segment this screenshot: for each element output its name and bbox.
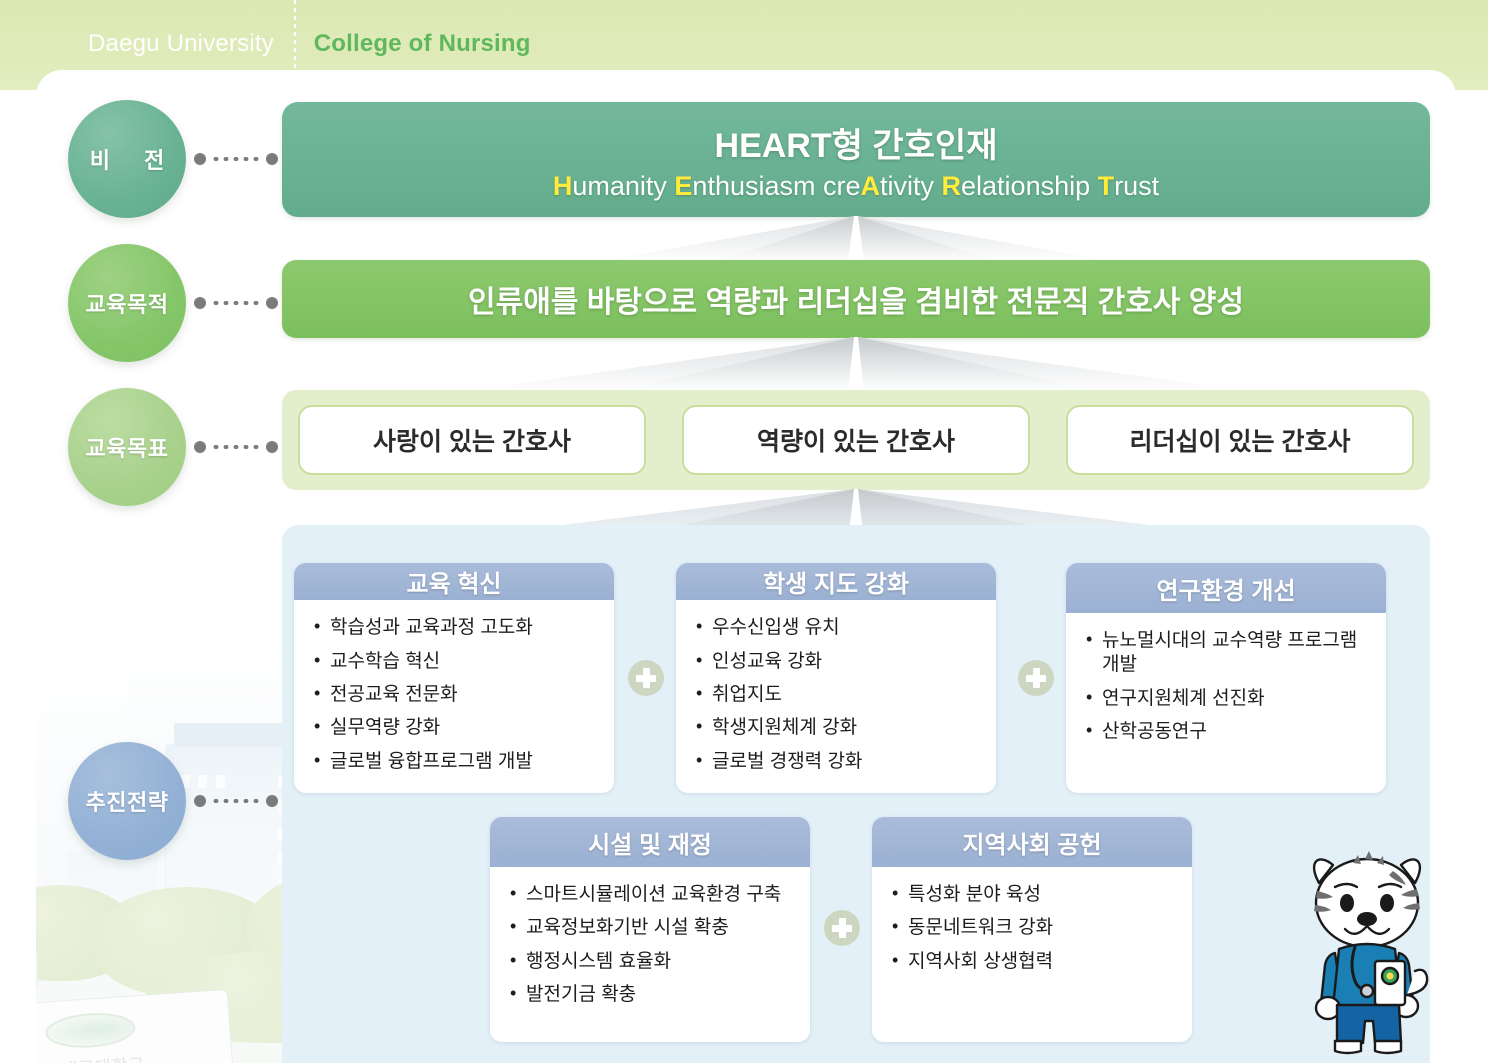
strategy-card-education-innovation: 교육 혁신 학습성과 교육과정 고도화 교수학습 혁신 전공교육 전문화 실무역… [294,563,614,793]
campus-kiosk [36,953,38,987]
plus-icon [628,660,664,696]
label-circle-strategy: 추진전략 [68,742,186,860]
strategy-item: 교수학습 혁신 [314,650,596,674]
strategy-item: 글로벌 경쟁력 강화 [696,750,978,774]
connector-dot-icon [194,297,206,309]
label-circle-strategy-text: 추진전략 [86,785,169,817]
strategy-item: 우수신입생 유치 [696,616,978,640]
label-circle-purpose-text: 교육목적 [86,287,169,319]
connector-dot-icon [266,795,278,807]
white-tiger-nurse-mascot-icon [1287,845,1447,1060]
campus-sign: 대구대학교 [36,990,233,1063]
vision-initial-a: A [861,171,881,201]
strategy-card-body: 뉴노멀시대의 교수역량 프로그램 개발 연구지원체계 선진화 산학공동연구 [1066,613,1386,793]
plus-icon [1018,660,1054,696]
connector-dot-icon [194,153,206,165]
campus-sign-text: 대구대학교 [61,1050,146,1063]
label-circle-purpose: 교육목적 [68,244,186,362]
vision-word-creativity: tivity [880,171,942,201]
label-circle-vision-text: 비 전 [76,143,179,175]
dotted-connector-vision [194,153,278,165]
strategy-item: 동문네트워크 강화 [892,916,1174,940]
fan-connector-vision-to-purpose [596,216,1116,262]
vision-word-enthusiasm: nthusiasm cre [692,171,860,201]
label-circle-vision: 비 전 [68,100,186,218]
connector-dots-icon [210,445,262,449]
connector-dot-icon [194,795,206,807]
connector-dot-icon [266,297,278,309]
college-name: College of Nursing [314,30,531,57]
strategy-card-title: 학생 지도 강화 [676,563,996,600]
strategy-card-title: 지역사회 공헌 [872,817,1192,867]
vision-banner: HEART형 간호인재 Humanity Enthusiasm creAtivi… [282,102,1430,217]
campus-tree [36,885,136,981]
strategy-card-facilities-finance: 시설 및 재정 스마트시뮬레이션 교육환경 구축 교육정보화기반 시설 확충 행… [490,817,810,1042]
connector-dot-icon [266,153,278,165]
strategy-card-title: 교육 혁신 [294,563,614,600]
purpose-text: 인류애를 바탕으로 역량과 리더십을 겸비한 전문직 간호사 양성 [468,277,1244,321]
strategy-card-title: 연구환경 개선 [1066,563,1386,613]
strategy-item: 연구지원체계 선진화 [1086,687,1368,711]
strategy-item: 스마트시뮬레이션 교육환경 구축 [510,883,792,907]
plus-icon [824,910,860,946]
label-circle-goal-text: 교육목표 [86,431,169,463]
strategy-item: 교육정보화기반 시설 확충 [510,916,792,940]
strategy-item: 행정시스템 효율화 [510,950,792,974]
dotted-connector-goal [194,441,278,453]
strategy-card-title: 시설 및 재정 [490,817,810,867]
vision-title: HEART형 간호인재 [715,118,998,167]
connector-dot-icon [194,441,206,453]
connector-dots-icon [210,301,262,305]
strategy-card-body: 특성화 분야 육성 동문네트워크 강화 지역사회 상생협력 [872,867,1192,1042]
goal-label: 리더십이 있는 간호사 [1130,422,1351,458]
strategy-card-student-guidance: 학생 지도 강화 우수신입생 유치 인성교육 강화 취업지도 학생지원체계 강화… [676,563,996,793]
campus-sign-emblem [44,1010,136,1050]
strategy-item: 취업지도 [696,683,978,707]
strategy-card-body: 스마트시뮬레이션 교육환경 구축 교육정보화기반 시설 확충 행정시스템 효율화… [490,867,810,1042]
dotted-connector-purpose [194,297,278,309]
strategy-item: 실무역량 강화 [314,716,596,740]
site-branding: Daegu University College of Nursing [88,30,531,58]
strategy-item: 인성교육 강화 [696,650,978,674]
strategy-item: 지역사회 상생협력 [892,950,1174,974]
strategy-item: 학습성과 교육과정 고도화 [314,616,596,640]
strategy-item: 학생지원체계 강화 [696,716,978,740]
vision-initial-t: T [1098,171,1115,201]
university-name: Daegu University [88,30,274,57]
campus-tree [92,887,282,997]
strategy-item: 뉴노멀시대의 교수역량 프로그램 개발 [1086,629,1368,678]
vision-initial-r: R [942,171,962,201]
diagram-panel: 대구대학교 비 전 교육목적 교육목표 추진전략 HEART형 간호인재 H [36,70,1456,1063]
connector-dots-icon [210,799,262,803]
label-circle-goal: 교육목표 [68,388,186,506]
vision-initial-h: H [553,171,573,201]
purpose-banner: 인류애를 바탕으로 역량과 리더십을 겸비한 전문직 간호사 양성 [282,260,1430,338]
goal-label: 사랑이 있는 간호사 [373,422,571,458]
strategy-panel: 교육 혁신 학습성과 교육과정 고도화 교수학습 혁신 전공교육 전문화 실무역… [282,525,1430,1063]
strategy-item: 특성화 분야 육성 [892,883,1174,907]
vision-word-humanity: umanity [572,171,674,201]
goal-box-leadership: 리더십이 있는 간호사 [1066,405,1414,475]
strategy-card-body: 우수신입생 유치 인성교육 강화 취업지도 학생지원체계 강화 글로벌 경쟁력 … [676,600,996,793]
connector-dots-icon [210,157,262,161]
goal-box-love: 사랑이 있는 간호사 [298,405,646,475]
strategy-card-body: 학습성과 교육과정 고도화 교수학습 혁신 전공교육 전문화 실무역량 강화 글… [294,600,614,793]
goal-strip: 사랑이 있는 간호사 역량이 있는 간호사 리더십이 있는 간호사 [282,390,1430,490]
vision-word-relationship: elationship [961,171,1098,201]
vision-subtitle: Humanity Enthusiasm creAtivity Relations… [553,171,1159,202]
goal-box-competency: 역량이 있는 간호사 [682,405,1030,475]
strategy-item: 글로벌 융합프로그램 개발 [314,750,596,774]
goal-label: 역량이 있는 간호사 [757,422,955,458]
strategy-item: 전공교육 전문화 [314,683,596,707]
connector-dot-icon [266,441,278,453]
campus-building-small [68,851,158,961]
strategy-card-research-environment: 연구환경 개선 뉴노멀시대의 교수역량 프로그램 개발 연구지원체계 선진화 산… [1066,563,1386,793]
dotted-connector-strategy [194,795,278,807]
strategy-item: 발전기금 확충 [510,983,792,1007]
strategy-card-community-contribution: 지역사회 공헌 특성화 분야 육성 동문네트워크 강화 지역사회 상생협력 [872,817,1192,1042]
fan-connector-purpose-to-goal [466,337,1246,391]
vision-initial-e: E [674,171,692,201]
strategy-item: 산학공동연구 [1086,720,1368,744]
vision-word-trust: rust [1114,171,1159,201]
